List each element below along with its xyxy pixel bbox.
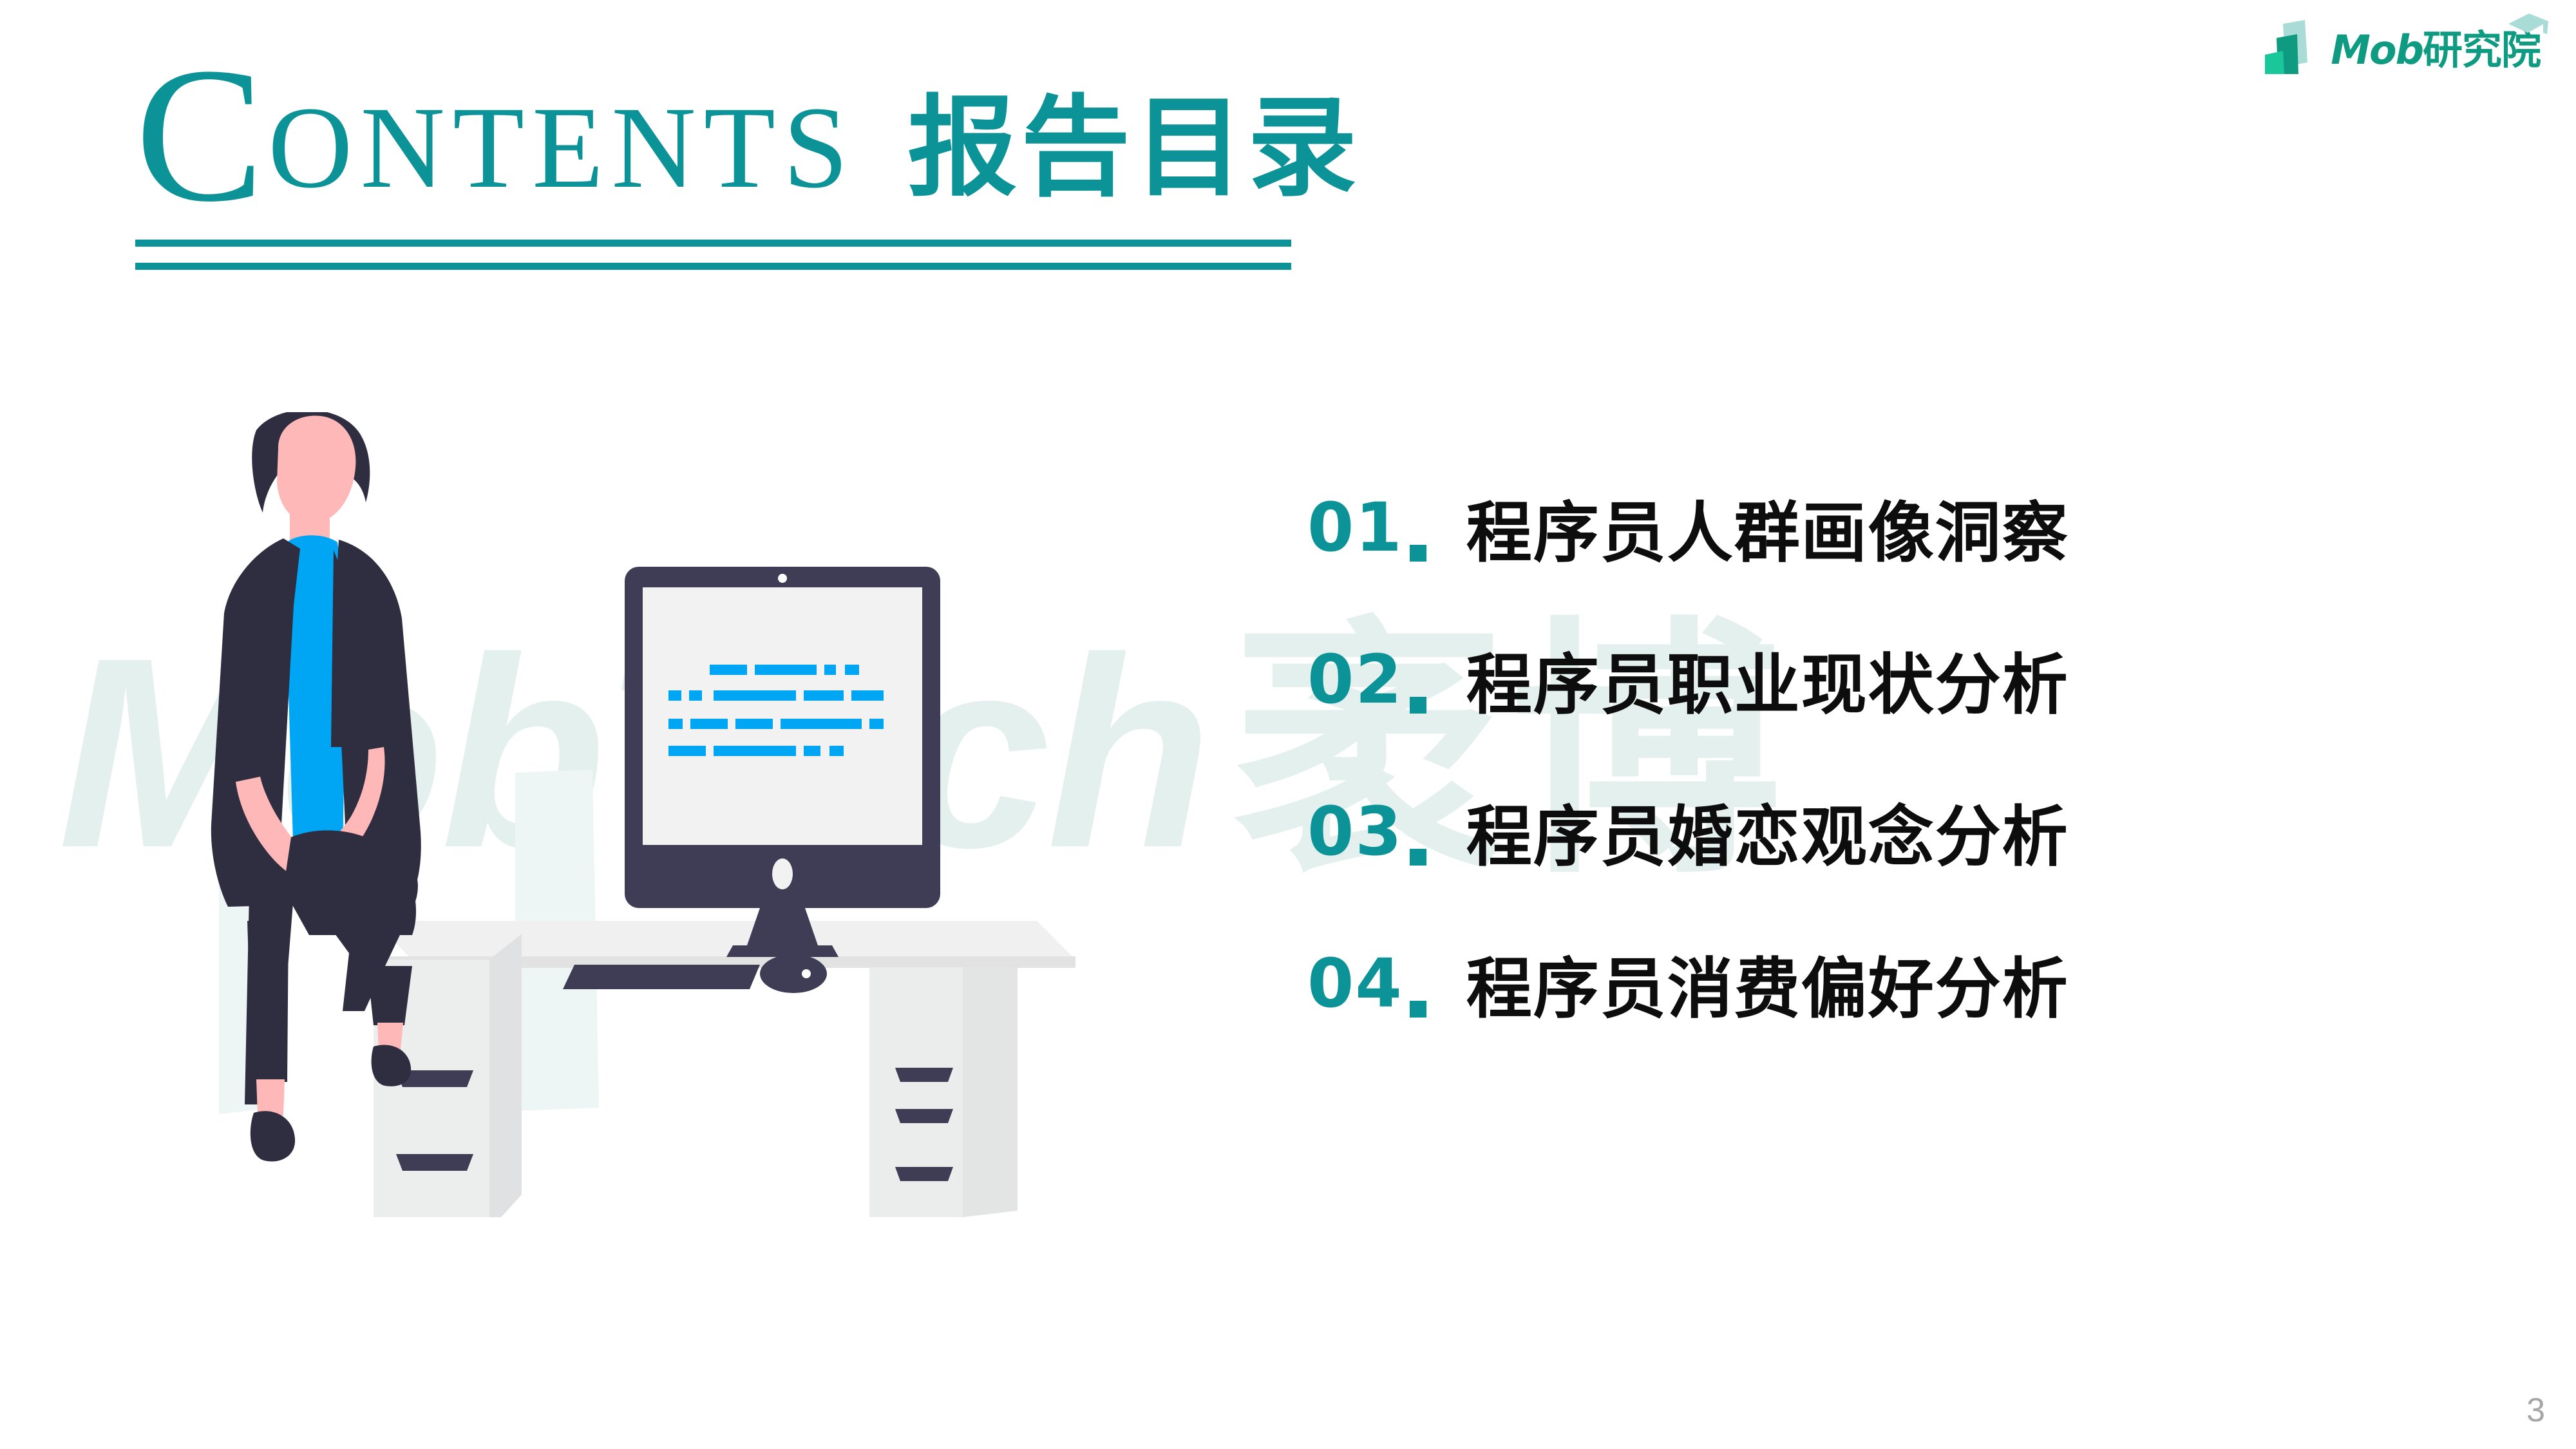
list-item-number: 02 — [1307, 640, 1426, 719]
number-dot-icon — [1410, 697, 1426, 714]
list-item[interactable]: 01 程序员人群画像洞察 — [1307, 489, 2402, 565]
list-item-label: 程序员职业现状分析 — [1466, 632, 2069, 727]
list-item[interactable]: 02 程序员职业现状分析 — [1307, 641, 2402, 717]
bar-chart-mark-icon — [2264, 19, 2322, 74]
page-title: C ONTENTS 报告目录 — [135, 39, 1361, 218]
list-item-number: 03 — [1307, 792, 1426, 871]
list-item-number-text: 02 — [1307, 640, 1403, 719]
list-item[interactable]: 03 程序员婚恋观念分析 — [1307, 793, 2402, 869]
list-item-label: 程序员婚恋观念分析 — [1466, 784, 2069, 879]
graduation-cap-icon — [2507, 1, 2550, 26]
logo-wordmark: Mob研究院 — [2331, 17, 2541, 75]
programmer-at-desk-illustration — [180, 412, 1095, 1217]
number-dot-icon — [1410, 545, 1426, 562]
list-item-number: 04 — [1307, 944, 1426, 1023]
list-item-number: 01 — [1307, 488, 1426, 567]
list-item-number-text: 04 — [1307, 944, 1403, 1023]
divider-line-top — [135, 240, 1291, 247]
page-number: 3 — [2526, 1391, 2545, 1430]
divider-line-bottom — [135, 263, 1291, 270]
title-chinese-text: 报告目录 — [907, 59, 1361, 217]
title-contents-text: ONTENTS — [268, 80, 856, 215]
list-item-number-text: 03 — [1307, 792, 1403, 871]
logo-text-en: Mob — [2331, 26, 2423, 73]
slide-header: C ONTENTS 报告目录 — [0, 0, 2576, 277]
title-divider — [135, 240, 1291, 270]
title-initial-letter: C — [135, 52, 264, 218]
contents-list: 01 程序员人群画像洞察 02 程序员职业现状分析 03 程序员婚恋观念分析 0… — [1307, 489, 2402, 1021]
list-item-label: 程序员人群画像洞察 — [1466, 480, 2069, 575]
number-dot-icon — [1410, 1001, 1426, 1018]
list-item[interactable]: 04 程序员消费偏好分析 — [1307, 945, 2402, 1021]
number-dot-icon — [1410, 849, 1426, 866]
list-item-label: 程序员消费偏好分析 — [1466, 936, 2069, 1031]
mob-research-logo: Mob研究院 — [2264, 14, 2541, 79]
list-item-number-text: 01 — [1307, 488, 1403, 567]
